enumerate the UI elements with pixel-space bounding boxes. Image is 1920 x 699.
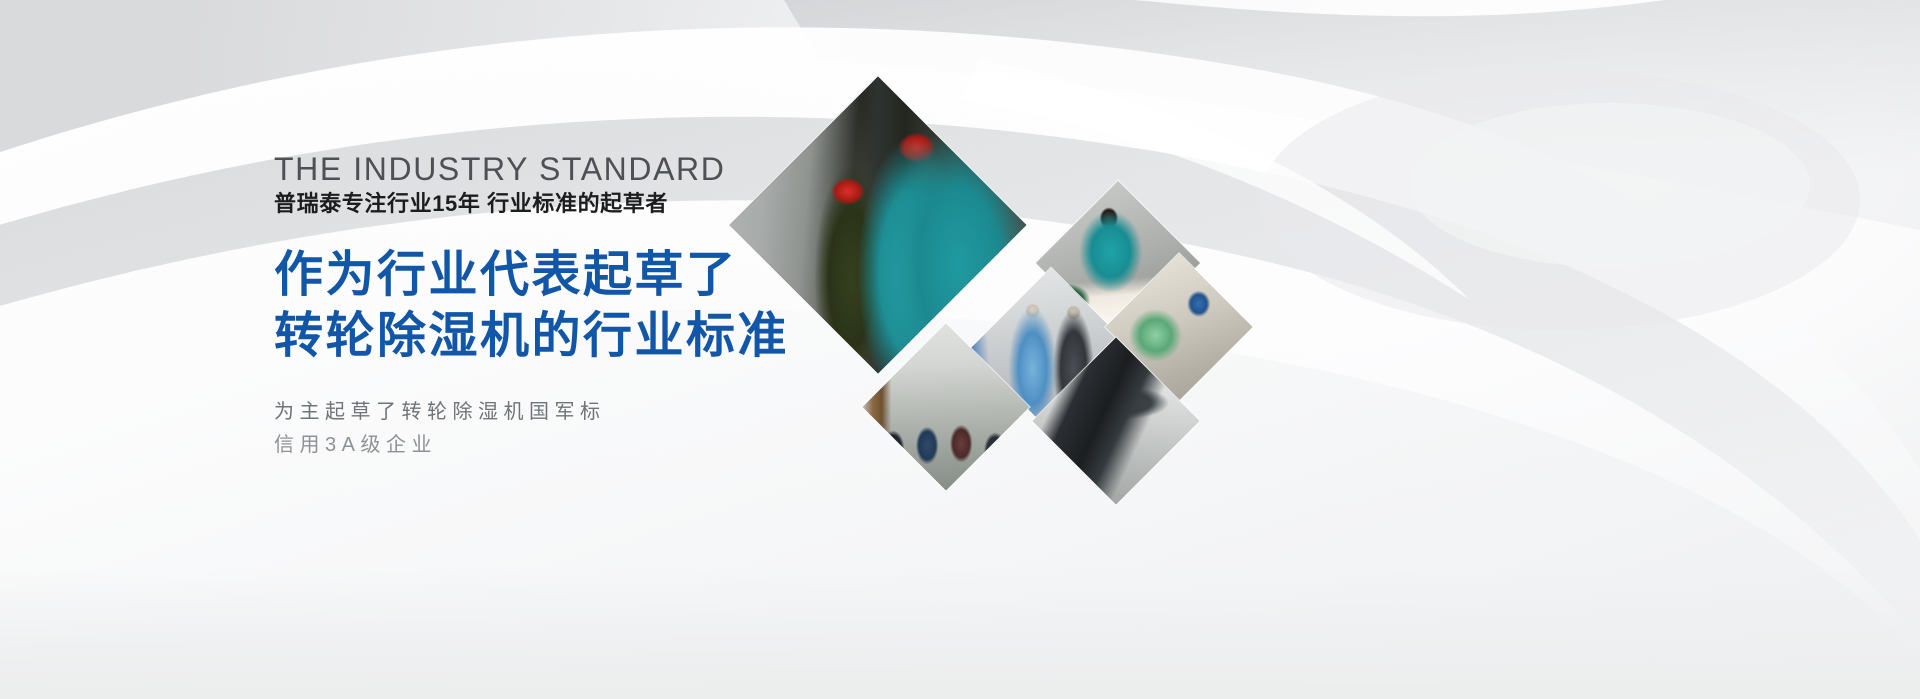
headline-line-1: 作为行业代表起草了 (274, 245, 914, 306)
hero-copy-block: THE INDUSTRY STANDARD 普瑞泰专注行业15年 行业标准的起草… (274, 152, 914, 461)
subcopy-group: 为主起草了转轮除湿机国军标 信用3A级企业 (274, 396, 914, 461)
subcopy-line-2: 信用3A级企业 (274, 429, 914, 461)
bottom-edge-fade (0, 569, 1920, 699)
eyebrow-english: THE INDUSTRY STANDARD (274, 152, 914, 187)
eyebrow-chinese: 普瑞泰专注行业15年 行业标准的起草者 (274, 191, 914, 217)
hero-banner: THE INDUSTRY STANDARD 普瑞泰专注行业15年 行业标准的起草… (0, 0, 1920, 699)
headline-group: 作为行业代表起草了 转轮除湿机的行业标准 (274, 245, 914, 367)
headline-line-2: 转轮除湿机的行业标准 (274, 306, 914, 367)
subcopy-line-1: 为主起草了转轮除湿机国军标 (274, 396, 914, 428)
